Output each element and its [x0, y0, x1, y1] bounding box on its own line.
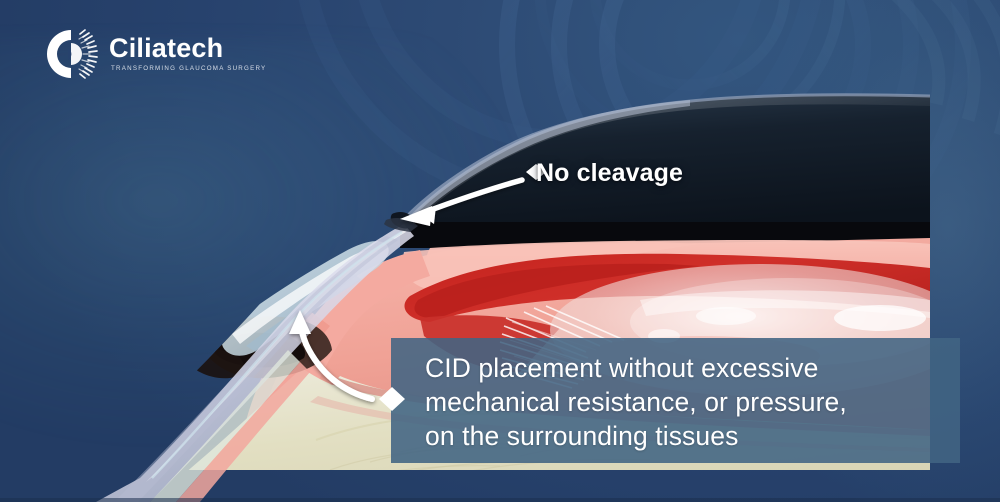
- brand-tagline: TRANSFORMING GLAUCOMA SURGERY: [111, 66, 266, 72]
- brand-logo[interactable]: Ciliatech TRANSFORMING GLAUCOMA SURGERY: [44, 27, 266, 81]
- ciliary-ring-icon: [44, 27, 98, 81]
- video-frame: No cleavage CID placement without excess…: [0, 0, 1000, 502]
- brand-name: Ciliatech: [109, 35, 266, 62]
- brand-wordmark: Ciliatech TRANSFORMING GLAUCOMA SURGERY: [109, 35, 266, 72]
- cornea-dome: [396, 95, 930, 240]
